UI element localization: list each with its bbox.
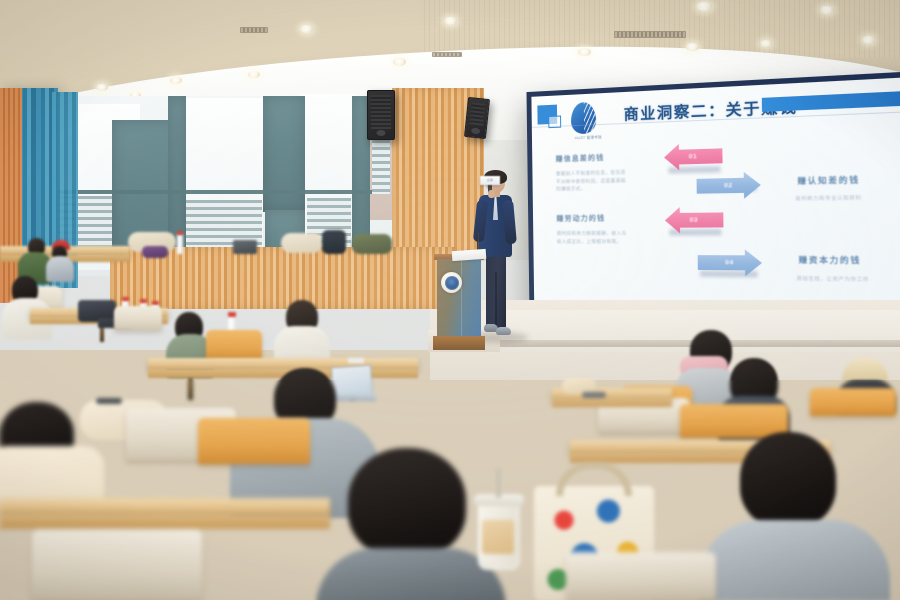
window-shade-panel xyxy=(263,96,305,212)
ceiling-downlight xyxy=(760,40,772,47)
podium-base xyxy=(433,336,485,350)
slide-right-body: 用钱生钱，让资产为你工作 xyxy=(797,276,870,283)
audience-body xyxy=(46,256,74,282)
laptop[interactable] xyxy=(331,365,373,398)
backpack xyxy=(142,246,168,258)
podium-body xyxy=(437,259,481,337)
lecture-hall-photo: HUST 管理学院 商业洞察二：关于赚钱 赚信息差的钱 掌握别人不知道的信息，在… xyxy=(0,0,900,600)
ceiling-downlight xyxy=(393,58,406,66)
audience-head xyxy=(348,448,466,558)
ceiling-downlight xyxy=(820,6,834,14)
slide-right-body: 靠判断力和专业认知获利 xyxy=(795,195,861,203)
presenter-shoe xyxy=(496,327,511,335)
ceiling-downlight xyxy=(686,43,699,51)
bottle-cap xyxy=(152,301,159,305)
slide-left-heading: 赚劳动力的钱 xyxy=(556,213,605,224)
slide-right-heading: 赚资本力的钱 xyxy=(799,254,862,266)
ceiling-downlight xyxy=(96,84,108,91)
seat-back xyxy=(32,530,202,600)
bottle-cap xyxy=(140,299,147,303)
wall-speaker xyxy=(464,97,490,139)
podium xyxy=(437,254,481,352)
seat-back xyxy=(198,418,310,464)
slide-left-body: 用时间和体力换取报酬，收入与投入成正比，上限相对有限。 xyxy=(557,230,628,246)
ceiling-downlight xyxy=(862,36,875,44)
presenter-legs xyxy=(486,254,506,328)
projection-screen[interactable]: HUST 管理学院 商业洞察二：关于赚钱 赚信息差的钱 掌握别人不知道的信息，在… xyxy=(527,70,900,325)
window-mullion xyxy=(53,190,373,194)
water-bottle xyxy=(177,234,183,254)
eyeglasses xyxy=(582,392,606,398)
clothing-pile xyxy=(281,233,323,253)
institution-logo-label: HUST 管理学院 xyxy=(564,135,612,142)
desk-leg xyxy=(188,378,193,400)
desk-row xyxy=(0,498,330,516)
seat-back xyxy=(114,306,162,330)
audience-head xyxy=(740,432,836,528)
equipment-box xyxy=(233,240,257,254)
bottle-cap xyxy=(177,231,183,235)
slide-arrow-number: 01 xyxy=(689,153,698,160)
ceiling-downlight xyxy=(696,2,712,11)
backpack xyxy=(322,230,346,254)
seat-back xyxy=(810,388,896,416)
ceiling-air-vent xyxy=(240,27,268,33)
desk-front-panel xyxy=(552,399,672,407)
slide-arrow-02: 02 xyxy=(696,172,761,200)
bottle-cap xyxy=(122,297,129,301)
jacket-item xyxy=(352,234,392,254)
drink-straw xyxy=(496,468,501,498)
slide-arrow-number: 02 xyxy=(724,182,733,189)
seat-back xyxy=(206,330,262,360)
microphone-flag-label: 记者 xyxy=(480,176,500,185)
bottle-cap xyxy=(228,312,236,317)
drink-cup-label xyxy=(482,520,514,554)
ceiling-air-vent xyxy=(432,52,462,57)
slide-title-accent-bar xyxy=(762,89,900,112)
presenter-hand xyxy=(488,190,495,198)
slide-arrow-number: 03 xyxy=(690,217,699,223)
slide-arrow-number: 04 xyxy=(725,260,734,266)
ceiling-air-vent xyxy=(614,31,686,38)
wall-speaker xyxy=(367,90,395,140)
ceiling-downlight xyxy=(170,77,182,84)
ceiling-downlight xyxy=(300,25,313,33)
eyeglasses xyxy=(96,398,122,404)
seat-back xyxy=(680,404,788,438)
ceiling-downlight xyxy=(444,17,457,25)
slide-surface: HUST 管理学院 商业洞察二：关于赚钱 赚信息差的钱 掌握别人不知道的信息，在… xyxy=(531,76,900,317)
slide-left-heading: 赚信息差的钱 xyxy=(556,153,605,165)
desk-front-panel xyxy=(0,515,330,529)
audience-body xyxy=(700,520,890,600)
slide-left-body: 掌握别人不知道的信息，在信息不对称中获得利润，这是最基础的赚钱方式。 xyxy=(556,168,627,193)
tote-bag-handle xyxy=(556,462,632,496)
slide-right-heading: 赚认知差的钱 xyxy=(797,174,859,187)
institution-logo-icon xyxy=(571,102,597,135)
seat-back xyxy=(566,552,716,600)
university-crest-icon xyxy=(441,272,462,293)
ceiling-downlight xyxy=(248,71,260,78)
window-louver xyxy=(372,140,390,194)
smartphone[interactable] xyxy=(348,358,364,363)
ceiling-downlight xyxy=(578,48,591,56)
